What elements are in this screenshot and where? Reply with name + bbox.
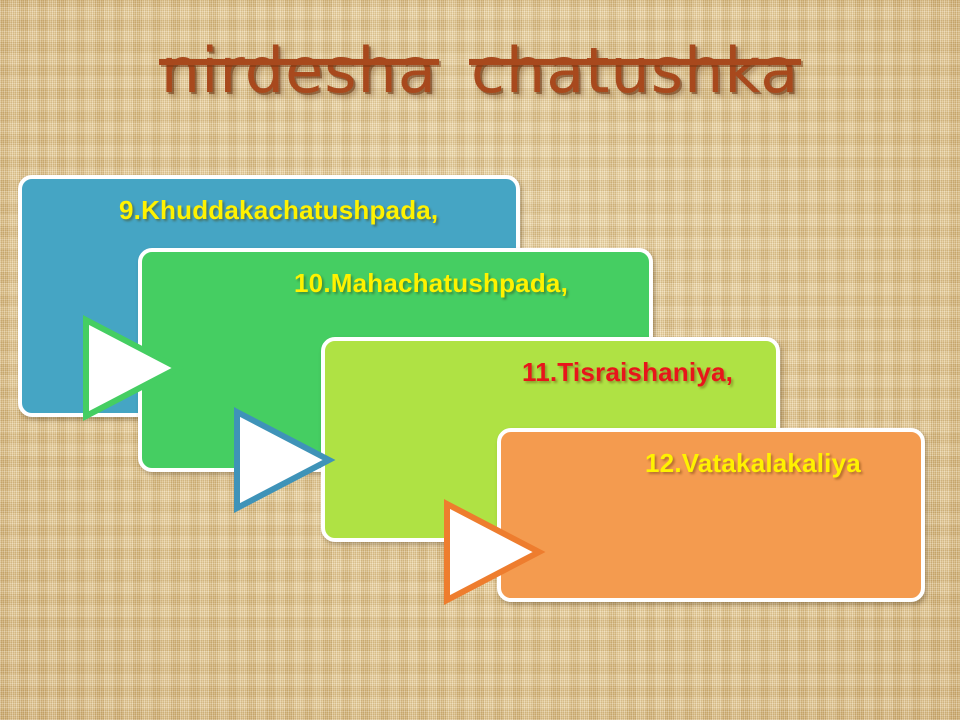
play-triangle-right-icon [86, 320, 178, 416]
title-word-chatushka: chatushka [467, 40, 803, 102]
flow-arrow-1 [82, 316, 182, 420]
stage-box-4-label: 12.Vatakalakaliya [645, 450, 861, 476]
flow-arrow-2 [233, 408, 333, 512]
slide-canvas: nirdeshachatushka 9.Khuddakachatushpada,… [0, 0, 960, 720]
title-word-nirdesha: nirdesha [157, 40, 441, 102]
stage-box-2-label: 10.Mahachatushpada, [294, 270, 568, 296]
stage-box-3-label: 11.Tisraishaniya, [522, 359, 733, 385]
stage-box-4[interactable]: 12.Vatakalakaliya [497, 428, 925, 602]
page-title: nirdeshachatushka [0, 40, 960, 102]
stage-box-1-label: 9.Khuddakachatushpada, [119, 197, 438, 223]
play-triangle-right-icon [447, 504, 539, 600]
flow-arrow-3 [443, 500, 543, 604]
play-triangle-right-icon [237, 412, 329, 508]
